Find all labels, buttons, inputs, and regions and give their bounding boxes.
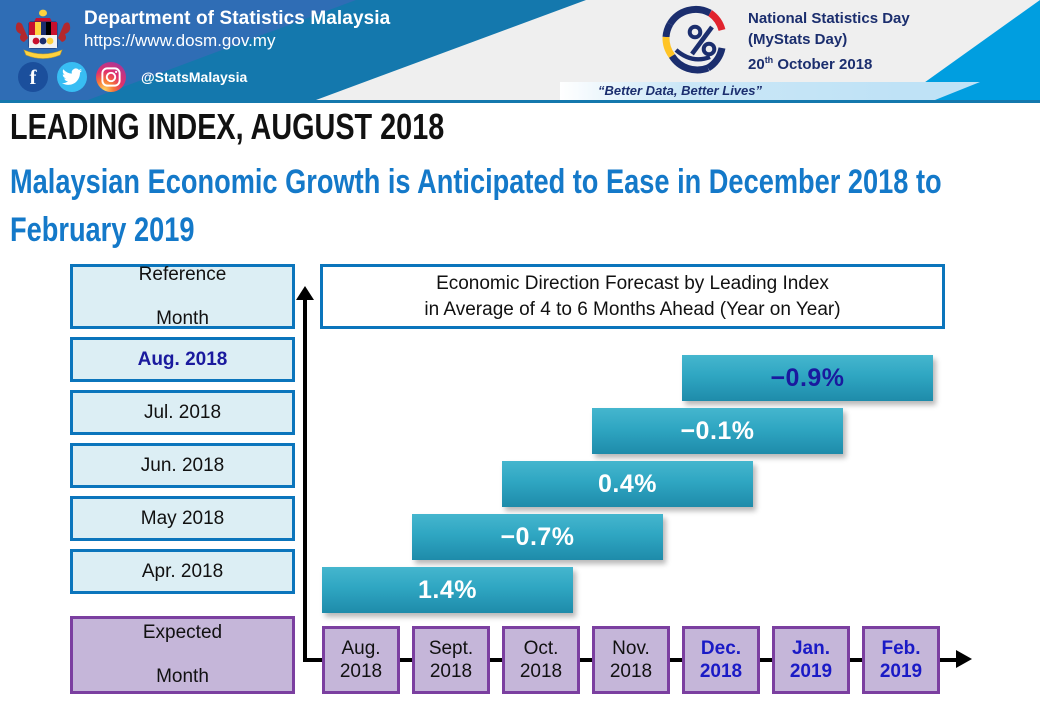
bar-value-label: 0.4% <box>598 470 657 499</box>
expected-month-line: 2018 <box>610 660 652 683</box>
bar-value-label: −0.9% <box>770 364 844 393</box>
org-url[interactable]: https://www.dosm.gov.my <box>84 30 390 52</box>
x-axis-arrow-icon <box>956 650 972 668</box>
expected-month-line: 2018 <box>520 660 562 683</box>
forecast-title: Economic Direction Forecast by Leading I… <box>436 271 829 297</box>
event-date: 20th October 2018 <box>748 50 910 75</box>
svg-text:f: f <box>30 65 38 89</box>
national-statistics-day-block: National Statistics Day (MyStats Day) 20… <box>748 8 910 75</box>
expected-month-line: Sept. <box>429 637 473 660</box>
expected-month-header: ExpectedMonth <box>70 616 295 694</box>
social-links: f @StatsMalaysia <box>18 62 247 92</box>
expected-month-line: Oct. <box>524 637 559 660</box>
expected-month-line: 2019 <box>880 660 922 683</box>
ref-box-line: Month <box>156 308 209 330</box>
org-name: Department of Statistics Malaysia <box>84 8 390 30</box>
facebook-icon[interactable]: f <box>18 62 48 92</box>
mystats-day-logo-icon <box>648 4 740 78</box>
ref-box-line: Apr. 2018 <box>142 561 223 583</box>
expected-month-box-6: Jan.2019 <box>772 626 850 694</box>
event-date-ordinal: th <box>765 55 774 65</box>
expected-month-line: 2018 <box>340 660 382 683</box>
reference-month-header: ReferenceMonth <box>70 264 295 329</box>
bar-1: −0.9% <box>682 355 933 401</box>
event-title-line1: National Statistics Day <box>748 8 910 29</box>
event-date-month-year: October 2018 <box>773 56 872 73</box>
expected-month-box-4: Nov.2018 <box>592 626 670 694</box>
forecast-header-box: Economic Direction Forecast by Leading I… <box>320 264 945 329</box>
tagline: “Better Data, Better Lives” <box>598 83 762 98</box>
expected-month-line: 2019 <box>790 660 832 683</box>
bar-4: −0.7% <box>412 514 663 560</box>
reference-month-4: May 2018 <box>70 496 295 541</box>
event-title-line2: (MyStats Day) <box>748 29 910 50</box>
expected-month-line: 2018 <box>430 660 472 683</box>
page-title: LEADING INDEX, AUGUST 2018 <box>10 106 826 148</box>
reference-month-5: Apr. 2018 <box>70 549 295 594</box>
expected-month-line: Jan. <box>792 637 830 660</box>
twitter-icon[interactable] <box>57 62 87 92</box>
reference-month-2: Jul. 2018 <box>70 390 295 435</box>
ref-box-line: May 2018 <box>141 508 224 530</box>
bar-3: 0.4% <box>502 461 753 507</box>
expected-month-line: Nov. <box>612 637 650 660</box>
social-handle: @StatsMalaysia <box>141 69 247 85</box>
page-subtitle: Malaysian Economic Growth is Anticipated… <box>10 158 1040 254</box>
expected-month-box-1: Aug.2018 <box>322 626 400 694</box>
header-divider <box>0 100 1040 103</box>
bar-5: 1.4% <box>322 567 573 613</box>
bar-value-label: 1.4% <box>418 576 477 605</box>
expected-month-line: Aug. <box>341 637 380 660</box>
bar-2: −0.1% <box>592 408 843 454</box>
reference-month-3: Jun. 2018 <box>70 443 295 488</box>
expected-month-box-7: Feb.2019 <box>862 626 940 694</box>
expected-month-box-2: Sept.2018 <box>412 626 490 694</box>
reference-month-1: Aug. 2018 <box>70 337 295 382</box>
dosm-identity: Department of Statistics Malaysia https:… <box>84 8 390 52</box>
instagram-icon[interactable] <box>96 62 126 92</box>
ref-box-line: Expected <box>143 622 222 644</box>
expected-month-box-5: Dec.2018 <box>682 626 760 694</box>
ref-box-line: Aug. 2018 <box>138 349 228 371</box>
event-date-day: 20 <box>748 56 765 73</box>
leading-index-chart: Economic Direction Forecast by Leading I… <box>0 258 1040 720</box>
expected-month-box-3: Oct.2018 <box>502 626 580 694</box>
malaysia-coat-of-arms-icon <box>12 8 74 64</box>
expected-month-line: Dec. <box>701 637 741 660</box>
bar-value-label: −0.1% <box>680 417 754 446</box>
ref-box-line: Jul. 2018 <box>144 402 221 424</box>
expected-month-line: Feb. <box>881 637 920 660</box>
y-axis-arrow-icon <box>296 286 314 300</box>
ref-box-line: Month <box>156 666 209 688</box>
expected-month-line: 2018 <box>700 660 742 683</box>
ref-box-line: Jun. 2018 <box>141 455 224 477</box>
forecast-subtitle: in Average of 4 to 6 Months Ahead (Year … <box>424 297 840 323</box>
poster-root: Department of Statistics Malaysia https:… <box>0 0 1040 720</box>
page-header: Department of Statistics Malaysia https:… <box>0 0 1040 100</box>
ref-box-line: Reference <box>139 264 227 286</box>
y-axis <box>303 296 307 662</box>
bar-value-label: −0.7% <box>500 523 574 552</box>
